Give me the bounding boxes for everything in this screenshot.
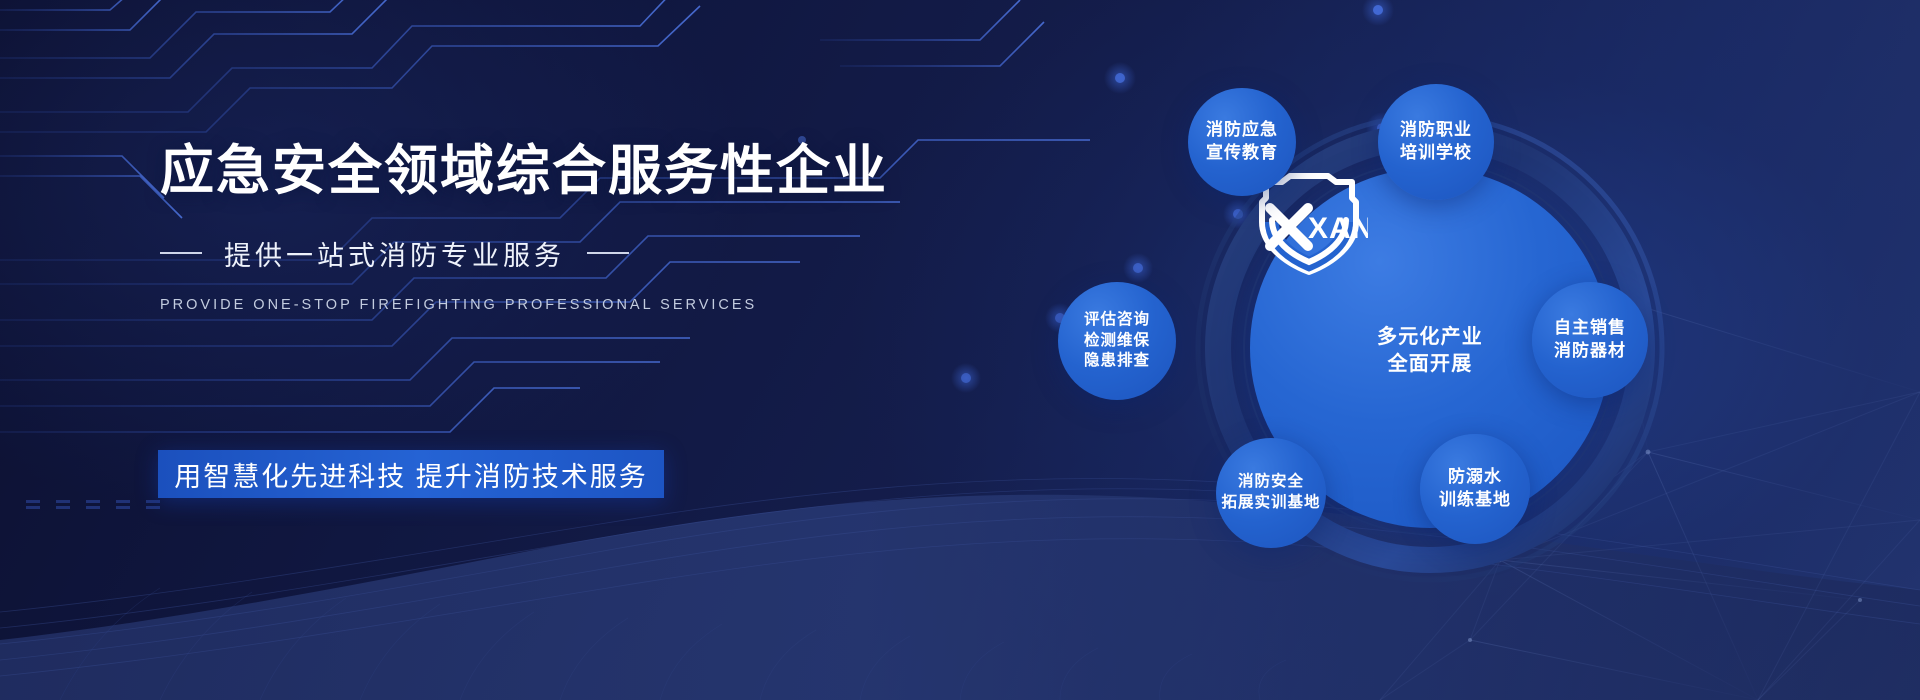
promo-banner: 应急安全领域综合服务性企业 提供一站式消防专业服务 PROVIDE ONE-ST… bbox=[0, 0, 1920, 700]
node-line2: 消防器材 bbox=[1554, 340, 1626, 363]
cta-banner-button[interactable]: 用智慧化先进科技 提升消防技术服务 bbox=[158, 450, 664, 498]
node-line1: 消防应急 bbox=[1206, 119, 1278, 142]
center-label-line2: 全面开展 bbox=[1377, 351, 1483, 378]
node-line3: 隐患排查 bbox=[1084, 351, 1150, 372]
headline-block: 应急安全领域综合服务性企业 提供一站式消防专业服务 PROVIDE ONE-ST… bbox=[160, 140, 920, 313]
node-water-rescue-base[interactable]: 防溺水 训练基地 bbox=[1420, 434, 1530, 544]
subtitle-row: 提供一站式消防专业服务 bbox=[160, 234, 920, 273]
subtitle: 提供一站式消防专业服务 bbox=[224, 234, 565, 273]
services-orbit-diagram: XAN 多元化产业 全面开展 消防应急 宣传教育 消防职业 培训学校 自主销售 … bbox=[1080, 60, 1780, 640]
node-equipment-sales[interactable]: 自主销售 消防器材 bbox=[1532, 282, 1648, 398]
node-line1: 自主销售 bbox=[1554, 317, 1626, 340]
logo-text: XAN bbox=[1308, 212, 1368, 245]
node-safety-training-base[interactable]: 消防安全 拓展实训基地 bbox=[1216, 438, 1326, 548]
node-line1: 消防安全 bbox=[1238, 472, 1304, 493]
node-line2: 培训学校 bbox=[1400, 142, 1472, 165]
node-line2: 检测维保 bbox=[1084, 331, 1150, 352]
node-line1: 防溺水 bbox=[1448, 466, 1502, 489]
cta-label: 用智慧化先进科技 提升消防技术服务 bbox=[174, 455, 648, 494]
node-line2: 拓展实训基地 bbox=[1221, 493, 1320, 514]
node-line2: 宣传教育 bbox=[1206, 142, 1278, 165]
node-assessment-inspection[interactable]: 评估咨询 检测维保 隐患排查 bbox=[1058, 282, 1176, 400]
node-line1: 评估咨询 bbox=[1084, 310, 1150, 331]
english-subtitle: PROVIDE ONE-STOP FIREFIGHTING PROFESSION… bbox=[160, 297, 920, 313]
node-line1: 消防职业 bbox=[1400, 119, 1472, 142]
node-fire-vocational-school[interactable]: 消防职业 培训学校 bbox=[1378, 84, 1494, 200]
node-line2: 训练基地 bbox=[1439, 489, 1511, 512]
center-node-labels: 多元化产业 全面开展 bbox=[1377, 324, 1483, 378]
node-fire-emergency-education[interactable]: 消防应急 宣传教育 bbox=[1188, 88, 1296, 196]
center-label-line1: 多元化产业 bbox=[1377, 324, 1483, 351]
rule-right bbox=[587, 252, 629, 254]
rule-left bbox=[160, 252, 202, 254]
page-title: 应急安全领域综合服务性企业 bbox=[160, 140, 920, 204]
